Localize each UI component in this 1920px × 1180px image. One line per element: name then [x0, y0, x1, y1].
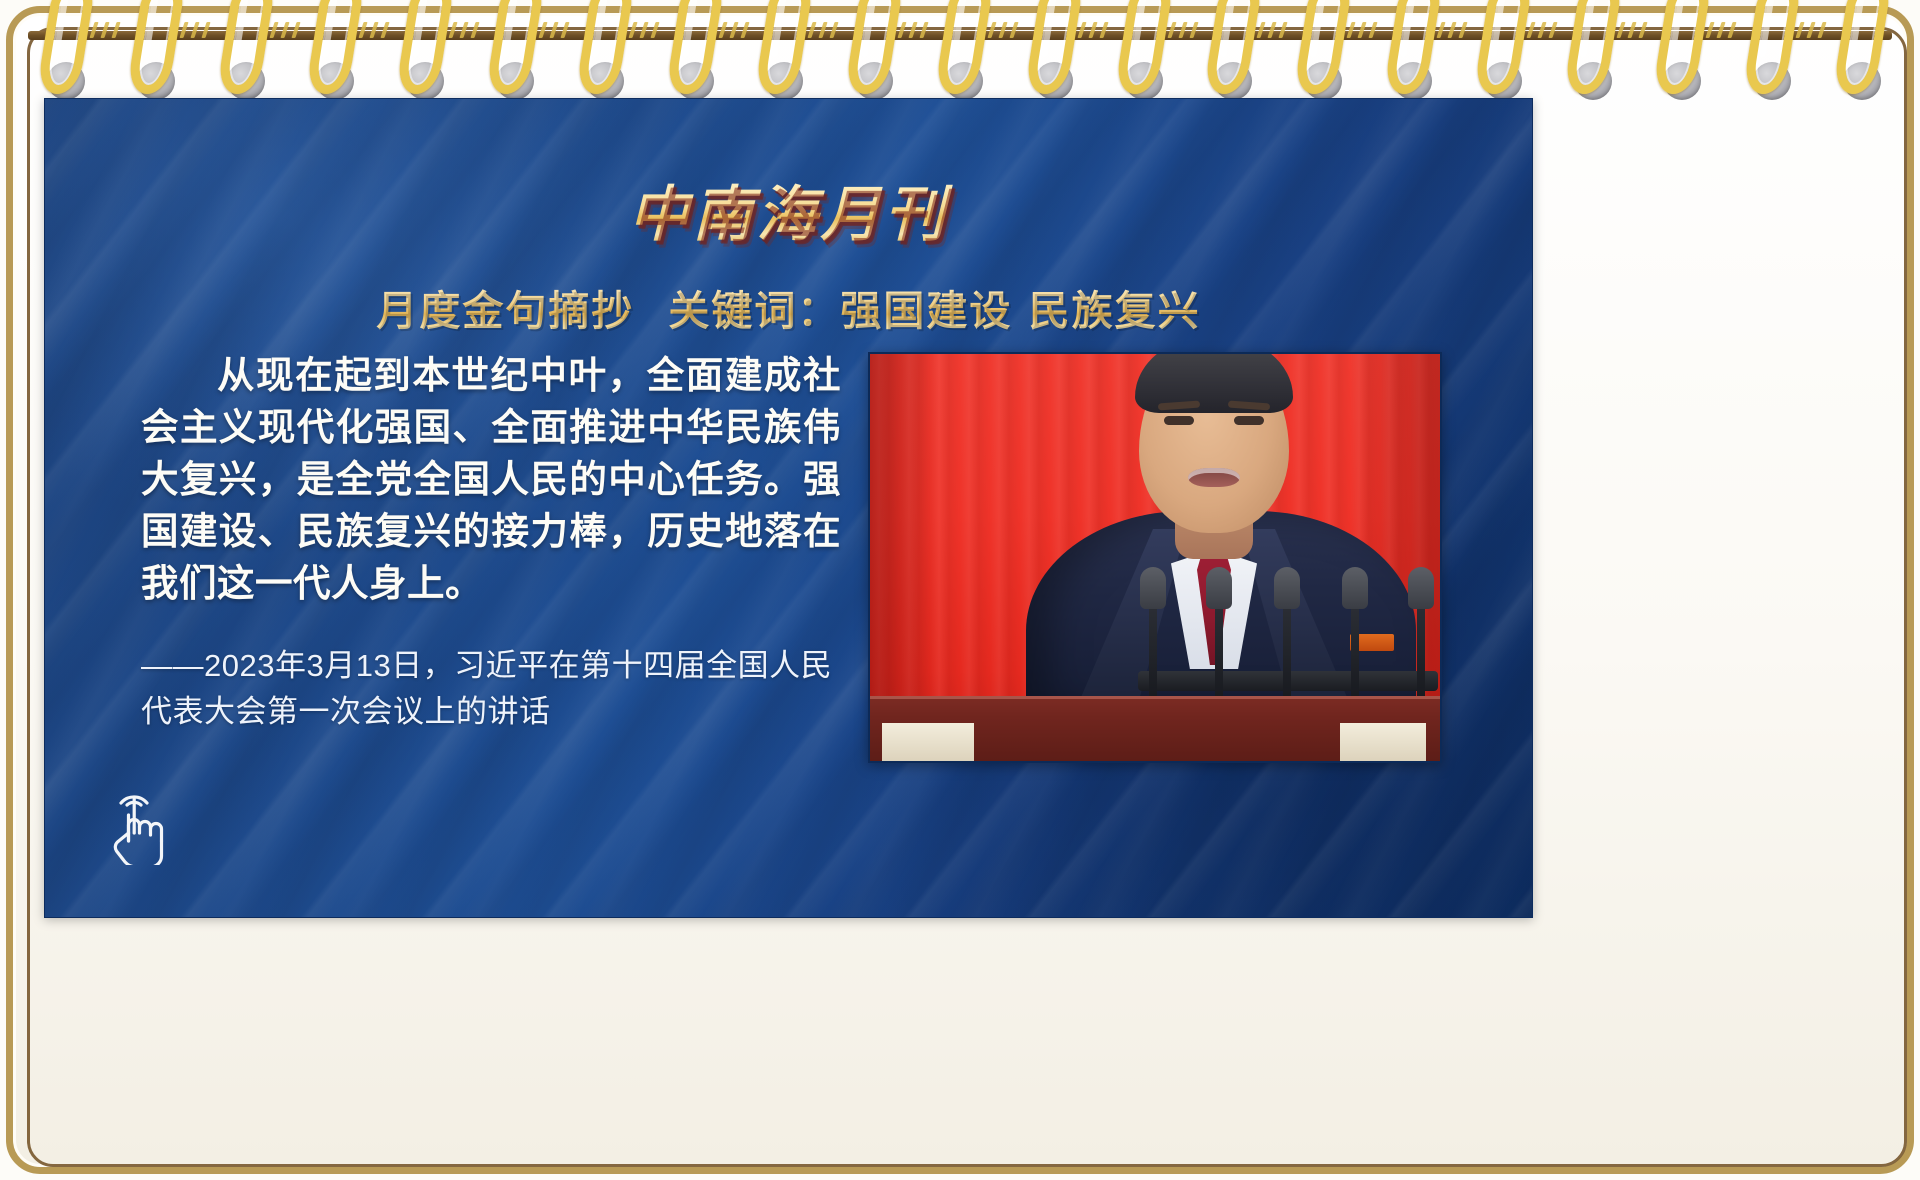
binding-ring [216, 0, 276, 94]
microphone-5 [1406, 567, 1436, 709]
microphone-4 [1340, 567, 1370, 709]
speaker-mouth [1188, 468, 1240, 487]
desk-paper-left [882, 723, 974, 761]
quote-text: 从现在起到本世纪中叶，全面建成社会主义现代化强国、全面推进中华民族伟大复兴，是全… [141, 349, 841, 609]
spiral-binding [0, 0, 1920, 108]
microphone-1 [1138, 567, 1168, 709]
speaker-eye-left [1164, 416, 1194, 425]
subtitle-left-text: 月度金句摘抄 [376, 287, 634, 335]
microphone-stem [1283, 605, 1291, 709]
page-title: 中南海月刊 [619, 181, 959, 249]
page-bottom-margin [0, 1170, 1920, 1180]
microphone-stem [1351, 605, 1359, 709]
binding-ring [1293, 0, 1353, 94]
binding-ring [934, 0, 994, 94]
binding-ring [1832, 0, 1892, 94]
binding-ring [395, 0, 455, 94]
binding-ring [844, 0, 904, 94]
quote-column: 从现在起到本世纪中叶，全面建成社会主义现代化强国、全面推进中华民族伟大复兴，是全… [141, 349, 841, 735]
microphone-capsule [1140, 567, 1166, 609]
desk-paper-right [1340, 723, 1426, 761]
microphone-stem [1149, 605, 1157, 709]
binding-ring [1204, 0, 1264, 94]
slide-card: 中南海月刊 月度金句摘抄关键词：强国建设 民族复兴 从现在起到本世纪中叶，全面建… [44, 98, 1533, 918]
microphone-cluster [1138, 559, 1438, 709]
microphone-capsule [1408, 567, 1434, 609]
binding-ring [1563, 0, 1623, 94]
binding-ring [1742, 0, 1802, 94]
binding-ring [1114, 0, 1174, 94]
speaker-eye-right [1234, 416, 1264, 425]
microphone-capsule [1342, 567, 1368, 609]
speech-photo [868, 352, 1442, 763]
binding-ring [306, 0, 366, 94]
microphone-capsule [1274, 567, 1300, 609]
masthead: 中南海月刊 月度金句摘抄关键词：强国建设 民族复兴 [45, 181, 1532, 337]
microphone-stem [1417, 605, 1425, 709]
notebook-page: 中南海月刊 月度金句摘抄关键词：强国建设 民族复兴 从现在起到本世纪中叶，全面建… [0, 0, 1920, 1180]
subtitle-keywords-text: 关键词：强国建设 民族复兴 [668, 287, 1200, 335]
binding-ring [1024, 0, 1084, 94]
microphone-2 [1204, 567, 1234, 709]
microphone-3 [1272, 567, 1302, 709]
podium-desk [870, 696, 1440, 761]
microphone-stem [1215, 605, 1223, 709]
binding-ring [755, 0, 815, 94]
quote-attribution: ——2023年3月13日，习近平在第十四届全国人民代表大会第一次会议上的讲话 [141, 643, 841, 735]
binding-ring [575, 0, 635, 94]
binding-ring [485, 0, 545, 94]
binding-ring [1653, 0, 1713, 94]
microphone-capsule [1206, 567, 1232, 609]
tap-palm [115, 833, 161, 865]
binding-ring [126, 0, 186, 94]
speaker-figure [988, 353, 1440, 709]
binding-ring [1383, 0, 1443, 94]
tap-hand-icon[interactable] [97, 769, 175, 865]
binding-ring [665, 0, 725, 94]
masthead-subtitle: 月度金句摘抄关键词：强国建设 民族复兴 [45, 277, 1532, 337]
binding-ring [36, 0, 96, 94]
binding-ring [1473, 0, 1533, 94]
tap-finger-3 [140, 822, 151, 836]
tap-finger-4 [151, 824, 162, 842]
